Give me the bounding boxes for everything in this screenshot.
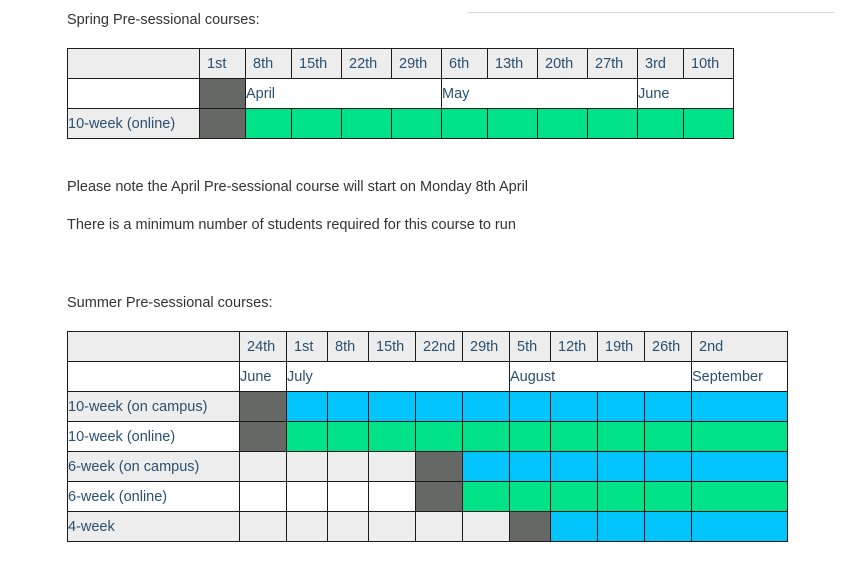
cell-summer-r3-c5 [463, 482, 510, 512]
top-divider-rule [468, 12, 834, 13]
cell-summer-r0-c9 [645, 392, 692, 422]
cell-summer-r0-c7 [551, 392, 598, 422]
cell-summer-r4-c5 [463, 512, 510, 542]
summer-header-date-7: 5th [510, 332, 551, 362]
summer-header-date-11: 2nd [692, 332, 788, 362]
cell-summer-r4-c8 [598, 512, 645, 542]
cell-summer-r3-c8 [598, 482, 645, 512]
cell-summer-r3-c6 [510, 482, 551, 512]
cell-summer-r4-c2 [328, 512, 369, 542]
note-minimum-students: There is a minimum number of students re… [67, 217, 516, 233]
cell-summer-r1-c8 [598, 422, 645, 452]
summer-header-date-1: 24th [240, 332, 287, 362]
cell-summer-r0-c1 [287, 392, 328, 422]
cell-summer-r3-c3 [369, 482, 416, 512]
spring-header-date-1: 1st [200, 49, 246, 79]
cell-summer-r0-c5 [463, 392, 510, 422]
cell-spring-r0-c4 [392, 109, 442, 139]
cell-summer-r3-c2 [328, 482, 369, 512]
summer-header-date-4: 15th [369, 332, 416, 362]
cell-summer-r2-c6 [510, 452, 551, 482]
summer-header-row: 24th 1st 8th 15th 22nd 29th 5th 12th 19t… [68, 332, 788, 362]
table-row: 10-week (online) [68, 109, 734, 139]
spring-month-row: April May June [68, 79, 734, 109]
cell-summer-r2-c10 [692, 452, 788, 482]
table-row: 4-week [68, 512, 788, 542]
cell-summer-r1-c7 [551, 422, 598, 452]
cell-spring-r0-c5 [442, 109, 488, 139]
cell-summer-r4-c0 [240, 512, 287, 542]
cell-spring-r0-c0 [200, 109, 246, 139]
summer-header-date-3: 8th [328, 332, 369, 362]
cell-spring-r0-c3 [342, 109, 392, 139]
cell-summer-r0-c3 [369, 392, 416, 422]
spring-course-dates-table: 1st 8th 15th 22th 29th 6th 13th 20th 27t… [67, 48, 734, 139]
spring-month-row-blank [68, 79, 200, 109]
cell-summer-r4-c9 [645, 512, 692, 542]
summer-row-label-6-week-online: 6-week (online) [68, 482, 240, 512]
cell-summer-r0-c6 [510, 392, 551, 422]
summer-section-title: Summer Pre-sessional courses: [67, 295, 273, 311]
spring-header-date-6: 6th [442, 49, 488, 79]
cell-summer-r1-c5 [463, 422, 510, 452]
cell-summer-r2-c7 [551, 452, 598, 482]
cell-summer-r3-c0 [240, 482, 287, 512]
summer-month-july: July [287, 362, 510, 392]
spring-header-date-11: 10th [684, 49, 734, 79]
spring-header-date-7: 13th [488, 49, 538, 79]
summer-header-date-2: 1st [287, 332, 328, 362]
spring-header-date-5: 29th [392, 49, 442, 79]
cell-summer-r4-c3 [369, 512, 416, 542]
cell-summer-r3-c7 [551, 482, 598, 512]
spring-row-label-10-week-online: 10-week (online) [68, 109, 200, 139]
summer-header-date-10: 26th [645, 332, 692, 362]
cell-spring-r0-c10 [684, 109, 734, 139]
spring-header-date-3: 15th [292, 49, 342, 79]
cell-summer-r2-c9 [645, 452, 692, 482]
table-row: 10-week (on campus) [68, 392, 788, 422]
summer-row-label-6-week-on-campus: 6-week (on campus) [68, 452, 240, 482]
cell-summer-r3-c1 [287, 482, 328, 512]
summer-header-date-8: 12th [551, 332, 598, 362]
spring-header-date-4: 22th [342, 49, 392, 79]
cell-summer-r1-c2 [328, 422, 369, 452]
cell-summer-r2-c3 [369, 452, 416, 482]
spring-header-blank [68, 49, 200, 79]
cell-summer-r0-c4 [416, 392, 463, 422]
cell-summer-r3-c4 [416, 482, 463, 512]
cell-spring-r0-c1 [246, 109, 292, 139]
summer-row-label-4-week: 4-week [68, 512, 240, 542]
cell-summer-r0-c2 [328, 392, 369, 422]
cell-spring-r0-c2 [292, 109, 342, 139]
cell-spring-r0-c9 [638, 109, 684, 139]
summer-header-date-5: 22nd [416, 332, 463, 362]
cell-spring-r0-c8 [588, 109, 638, 139]
cell-summer-r0-c8 [598, 392, 645, 422]
cell-spring-r0-c6 [488, 109, 538, 139]
spring-month-marker-grey [200, 79, 246, 109]
cell-summer-r0-c0 [240, 392, 287, 422]
cell-summer-r1-c1 [287, 422, 328, 452]
cell-summer-r1-c0 [240, 422, 287, 452]
spring-header-row: 1st 8th 15th 22th 29th 6th 13th 20th 27t… [68, 49, 734, 79]
spring-header-date-9: 27th [588, 49, 638, 79]
spring-section-title: Spring Pre-sessional courses: [67, 12, 260, 28]
summer-header-date-9: 19th [598, 332, 645, 362]
summer-month-june: June [240, 362, 287, 392]
cell-summer-r2-c2 [328, 452, 369, 482]
summer-month-august: August [510, 362, 692, 392]
table-row: 6-week (on campus) [68, 452, 788, 482]
cell-spring-r0-c7 [538, 109, 588, 139]
cell-summer-r1-c4 [416, 422, 463, 452]
cell-summer-r1-c9 [645, 422, 692, 452]
cell-summer-r4-c6 [510, 512, 551, 542]
summer-month-row: June July August September [68, 362, 788, 392]
cell-summer-r2-c0 [240, 452, 287, 482]
cell-summer-r4-c1 [287, 512, 328, 542]
cell-summer-r4-c4 [416, 512, 463, 542]
summer-month-row-blank [68, 362, 240, 392]
spring-header-date-8: 20th [538, 49, 588, 79]
cell-summer-r0-c10 [692, 392, 788, 422]
summer-row-label-10-week-on-campus: 10-week (on campus) [68, 392, 240, 422]
spring-month-june: June [638, 79, 734, 109]
spring-header-date-10: 3rd [638, 49, 684, 79]
table-row: 6-week (online) [68, 482, 788, 512]
cell-summer-r4-c7 [551, 512, 598, 542]
spring-month-april: April [246, 79, 442, 109]
spring-header-date-2: 8th [246, 49, 292, 79]
cell-summer-r2-c1 [287, 452, 328, 482]
cell-summer-r3-c10 [692, 482, 788, 512]
cell-summer-r4-c10 [692, 512, 788, 542]
summer-month-september: September [692, 362, 788, 392]
cell-summer-r1-c10 [692, 422, 788, 452]
table-row: 10-week (online) [68, 422, 788, 452]
spring-month-may: May [442, 79, 638, 109]
cell-summer-r3-c9 [645, 482, 692, 512]
cell-summer-r2-c8 [598, 452, 645, 482]
summer-header-blank [68, 332, 240, 362]
summer-course-dates-table: 24th 1st 8th 15th 22nd 29th 5th 12th 19t… [67, 331, 788, 542]
cell-summer-r1-c6 [510, 422, 551, 452]
cell-summer-r2-c4 [416, 452, 463, 482]
summer-header-date-6: 29th [463, 332, 510, 362]
cell-summer-r2-c5 [463, 452, 510, 482]
cell-summer-r1-c3 [369, 422, 416, 452]
summer-row-label-10-week-online: 10-week (online) [68, 422, 240, 452]
note-april-start: Please note the April Pre-sessional cour… [67, 179, 528, 195]
